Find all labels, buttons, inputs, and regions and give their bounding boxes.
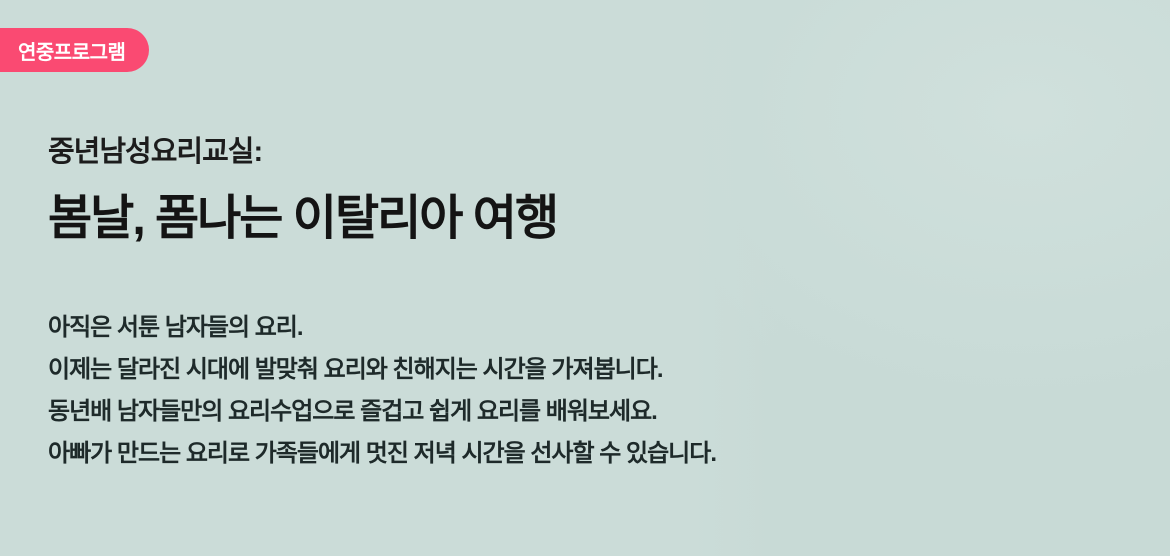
body-line: 아직은 서툰 남자들의 요리.: [48, 307, 716, 349]
banner-text-column: 중년남성요리교실: 봄날, 폼나는 이탈리아 여행 아직은 서툰 남자들의 요리…: [48, 0, 868, 556]
body-line: 이제는 달라진 시대에 발맞춰 요리와 친해지는 시간을 가져봅니다.: [48, 349, 716, 391]
banner-subtitle: 중년남성요리교실:: [48, 128, 262, 170]
body-line: 아빠가 만드는 요리로 가족들에게 멋진 저녁 시간을 선사할 수 있습니다.: [48, 433, 716, 475]
banner-body-copy: 아직은 서툰 남자들의 요리. 이제는 달라진 시대에 발맞춰 요리와 친해지는…: [48, 307, 716, 475]
banner-title: 봄날, 폼나는 이탈리아 여행: [48, 178, 557, 248]
program-banner: 연중프로그램 중년남성요리교실: 봄날, 폼나는 이탈리아 여행 아직은 서툰 …: [0, 0, 1170, 556]
body-line: 동년배 남자들만의 요리수업으로 즐겁고 쉽게 요리를 배워보세요.: [48, 391, 716, 433]
